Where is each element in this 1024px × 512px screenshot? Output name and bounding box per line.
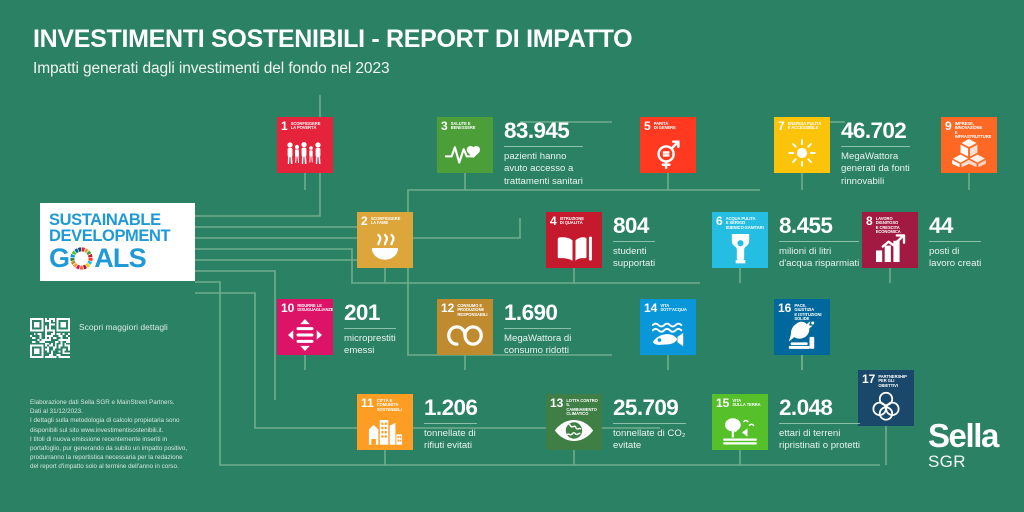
goal-tile-header: 7ENERGIA PULITA E ACCESSIBILE bbox=[778, 121, 826, 137]
goal-number: 3 bbox=[441, 121, 448, 132]
goal-item-13[interactable]: 13LOTTA CONTRO IL CAMBIAMENTO CLIMATICO2… bbox=[546, 394, 686, 453]
goal-label: ACQUA PULITA E SERVIZI IGIENICO-SANITARI bbox=[726, 216, 764, 230]
goal-number: 8 bbox=[866, 216, 873, 227]
goal-stat-description: pazienti hanno avuto accesso a trattamen… bbox=[504, 151, 583, 188]
goal-number: 11 bbox=[361, 398, 374, 409]
goal-stat-value: 25.709 bbox=[613, 395, 686, 420]
goal-tile-header: 6ACQUA PULITA E SERVIZI IGIENICO-SANITAR… bbox=[716, 216, 764, 232]
goal-stat-value: 201 bbox=[344, 300, 396, 325]
goal-number: 4 bbox=[550, 216, 557, 227]
goal-stat-value: 44 bbox=[929, 213, 981, 238]
goal-label: PARTNERSHIP PER GLI OBIETTIVI bbox=[878, 374, 910, 388]
open-book-icon bbox=[546, 232, 602, 264]
goal-label: PARITÀ DI GENERE bbox=[654, 121, 676, 131]
heartbeat-icon bbox=[437, 137, 493, 169]
goal-label: VITA SOTT'ACQUA bbox=[660, 303, 686, 313]
goal-tile-11[interactable]: 11CITTÀ E COMUNITÀ SOSTENIBILI bbox=[357, 394, 413, 450]
goal-number: 16 bbox=[778, 303, 791, 314]
goal-item-17[interactable]: 17PARTNERSHIP PER GLI OBIETTIVI bbox=[858, 370, 914, 426]
goal-item-15[interactable]: 15VITA SULLA TERRA2.048ettari di terreni… bbox=[712, 394, 860, 453]
footnote-line: disponibili sul sito www.investimentisos… bbox=[30, 426, 210, 435]
footnote-line: I dettagli sulla metodologia di calcolo … bbox=[30, 416, 210, 425]
goal-stat-value: 1.206 bbox=[424, 395, 477, 420]
tree-birds-icon bbox=[712, 414, 768, 446]
brand-logo: Sella SGR bbox=[928, 420, 998, 471]
footnote: Elaborazione dati Sella SGR e MainStreet… bbox=[30, 398, 210, 472]
goal-tile-header: 11CITTÀ E COMUNITÀ SOSTENIBILI bbox=[361, 398, 409, 414]
goal-item-14[interactable]: 14VITA SOTT'ACQUA bbox=[640, 299, 696, 355]
goal-tile-2[interactable]: 2SCONFIGGERE LA FAME bbox=[357, 212, 413, 268]
goal-number: 1 bbox=[281, 121, 288, 132]
goal-tile-10[interactable]: 10RIDURRE LE DISUGUAGLIANZE bbox=[277, 299, 333, 355]
goal-number: 13 bbox=[550, 398, 563, 409]
goal-number: 2 bbox=[361, 216, 368, 227]
footnote-line: Elaborazione dati Sella SGR e MainStreet… bbox=[30, 398, 210, 407]
goal-item-7[interactable]: 7ENERGIA PULITA E ACCESSIBILE46.702MegaW… bbox=[774, 117, 910, 188]
goal-label: VITA SULLA TERRA bbox=[732, 398, 760, 408]
goal-stat-value: 1.690 bbox=[504, 300, 571, 325]
goal-tile-16[interactable]: 16PACE, GIUSTIZIA E ISTITUZIONI SOLIDE bbox=[774, 299, 830, 355]
goal-stat-description: microprestiti emessi bbox=[344, 333, 396, 358]
goal-stat-rule bbox=[929, 241, 981, 242]
infinity-loop-icon bbox=[437, 319, 493, 351]
family-people-icon bbox=[277, 137, 333, 169]
goal-item-8[interactable]: 8LAVORO DIGNITOSO E CRESCITA ECONOMICA44… bbox=[862, 212, 981, 271]
page-subtitle: Impatti generati dagli investimenti del … bbox=[33, 60, 632, 78]
goal-stat-value: 46.702 bbox=[841, 118, 910, 143]
goal-tile-7[interactable]: 7ENERGIA PULITA E ACCESSIBILE bbox=[774, 117, 830, 173]
footnote-line: del report d'impatto solo al termine del… bbox=[30, 462, 210, 471]
goal-tile-header: 13LOTTA CONTRO IL CAMBIAMENTO CLIMATICO bbox=[550, 398, 598, 414]
goal-item-3[interactable]: 3SALUTE E BENESSERE83.945pazienti hanno … bbox=[437, 117, 583, 188]
goal-tile-header: 15VITA SULLA TERRA bbox=[716, 398, 764, 414]
brand-unit: SGR bbox=[928, 453, 998, 471]
goal-tile-5[interactable]: 5PARITÀ DI GENERE bbox=[640, 117, 696, 173]
goal-tile-3[interactable]: 3SALUTE E BENESSERE bbox=[437, 117, 493, 173]
goal-number: 6 bbox=[716, 216, 723, 227]
goal-label: CITTÀ E COMUNITÀ SOSTENIBILI bbox=[377, 398, 409, 412]
goal-item-1[interactable]: 1SCONFIGGERE LA POVERTÀ bbox=[277, 117, 333, 173]
growth-chart-icon bbox=[862, 232, 918, 264]
dove-gavel-icon bbox=[774, 319, 830, 351]
footnote-line: Dati al 31/12/2023. bbox=[30, 407, 210, 416]
goal-stat: 804studenti supportati bbox=[613, 212, 655, 271]
sdg-logo-g: G bbox=[49, 245, 69, 272]
goal-stat: 46.702MegaWattora generati da fonti rinn… bbox=[841, 117, 910, 188]
goal-number: 7 bbox=[778, 121, 785, 132]
goal-item-5[interactable]: 5PARITÀ DI GENERE bbox=[640, 117, 696, 173]
goal-tile-header: 3SALUTE E BENESSERE bbox=[441, 121, 489, 137]
goal-stat: 201microprestiti emessi bbox=[344, 299, 396, 358]
sdg-logo-line1: SUSTAINABLE bbox=[49, 212, 195, 228]
goal-tile-header: 1SCONFIGGERE LA POVERTÀ bbox=[281, 121, 329, 137]
goal-item-10[interactable]: 10RIDURRE LE DISUGUAGLIANZE201microprest… bbox=[277, 299, 396, 358]
goal-stat-rule bbox=[613, 423, 686, 424]
brand-name: Sella bbox=[928, 420, 998, 452]
goal-stat-description: ettari di terreni ripristinati o protett… bbox=[779, 428, 860, 453]
goal-tile-6[interactable]: 6ACQUA PULITA E SERVIZI IGIENICO-SANITAR… bbox=[712, 212, 768, 268]
goal-label: ISTRUZIONE DI QUALITÀ bbox=[560, 216, 584, 226]
goal-item-16[interactable]: 16PACE, GIUSTIZIA E ISTITUZIONI SOLIDE bbox=[774, 299, 830, 355]
page-title: INVESTIMENTI SOSTENIBILI - REPORT DI IMP… bbox=[33, 26, 632, 54]
goal-tile-header: 14VITA SOTT'ACQUA bbox=[644, 303, 692, 319]
qr-code-icon[interactable] bbox=[30, 318, 70, 358]
goal-label: SALUTE E BENESSERE bbox=[451, 121, 476, 131]
equal-arrows-icon bbox=[277, 319, 333, 351]
sdg-logo-line3: G ALS bbox=[49, 245, 195, 272]
goal-stat-value: 2.048 bbox=[779, 395, 860, 420]
goal-stat: 25.709tonnellate di CO₂ evitate bbox=[613, 394, 686, 453]
goal-number: 9 bbox=[945, 121, 952, 132]
goal-item-6[interactable]: 6ACQUA PULITA E SERVIZI IGIENICO-SANITAR… bbox=[712, 212, 859, 271]
goal-item-11[interactable]: 11CITTÀ E COMUNITÀ SOSTENIBILI1.206tonne… bbox=[357, 394, 477, 453]
goal-stat-description: MegaWattora generati da fonti rinnovabil… bbox=[841, 151, 910, 188]
fish-waves-icon bbox=[640, 319, 696, 351]
goal-number: 5 bbox=[644, 121, 651, 132]
goal-stat: 44posti di lavoro creati bbox=[929, 212, 981, 271]
goal-item-2[interactable]: 2SCONFIGGERE LA FAME bbox=[357, 212, 413, 268]
goal-number: 15 bbox=[716, 398, 729, 409]
goal-tile-14[interactable]: 14VITA SOTT'ACQUA bbox=[640, 299, 696, 355]
goal-stat-description: studenti supportati bbox=[613, 246, 655, 271]
goal-tile-13[interactable]: 13LOTTA CONTRO IL CAMBIAMENTO CLIMATICO bbox=[546, 394, 602, 450]
goal-tile-8[interactable]: 8LAVORO DIGNITOSO E CRESCITA ECONOMICA bbox=[862, 212, 918, 268]
goal-tile-header: 16PACE, GIUSTIZIA E ISTITUZIONI SOLIDE bbox=[778, 303, 826, 319]
goal-tile-header: 8LAVORO DIGNITOSO E CRESCITA ECONOMICA bbox=[866, 216, 914, 232]
goal-tile-header: 5PARITÀ DI GENERE bbox=[644, 121, 692, 137]
goal-tile-17[interactable]: 17PARTNERSHIP PER GLI OBIETTIVI bbox=[858, 370, 914, 426]
goal-stat-description: tonnellate di CO₂ evitate bbox=[613, 428, 686, 453]
qr-block[interactable]: Scopri maggiori dettagli bbox=[30, 318, 168, 358]
qr-caption: Scopri maggiori dettagli bbox=[79, 318, 168, 333]
goal-stat: 1.690MegaWattora di consumo ridotti bbox=[504, 299, 571, 358]
goal-stat-rule bbox=[779, 241, 859, 242]
goal-label: ENERGIA PULITA E ACCESSIBILE bbox=[788, 121, 821, 131]
goal-stat-value: 804 bbox=[613, 213, 655, 238]
goal-item-4[interactable]: 4ISTRUZIONE DI QUALITÀ804studenti suppor… bbox=[546, 212, 655, 271]
goal-tile-header: 9IMPRESE, INNOVAZIONE E INFRASTRUTTURE bbox=[945, 121, 993, 137]
infographic-canvas: INVESTIMENTI SOSTENIBILI - REPORT DI IMP… bbox=[0, 0, 1024, 512]
goal-stat-rule bbox=[504, 146, 583, 147]
goal-stat: 8.455milioni di litri d'acqua risparmiat… bbox=[779, 212, 859, 271]
goal-stat: 83.945pazienti hanno avuto accesso a tra… bbox=[504, 117, 583, 188]
goal-number: 10 bbox=[281, 303, 294, 314]
footnote-line: produrranno la reportistica necessaria p… bbox=[30, 453, 210, 462]
water-drop-icon bbox=[712, 232, 768, 264]
goal-number: 12 bbox=[441, 303, 454, 314]
footnote-line: I titoli di nuova emissione recentemente… bbox=[30, 435, 210, 444]
goal-tile-header: 2SCONFIGGERE LA FAME bbox=[361, 216, 409, 232]
goal-tile-header: 10RIDURRE LE DISUGUAGLIANZE bbox=[281, 303, 329, 319]
climate-eye-icon bbox=[546, 414, 602, 446]
goal-tile-4[interactable]: 4ISTRUZIONE DI QUALITÀ bbox=[546, 212, 602, 268]
goal-tile-header: 12CONSUMO E PRODUZIONE RESPONSABILI bbox=[441, 303, 489, 319]
goal-tile-header: 17PARTNERSHIP PER GLI OBIETTIVI bbox=[862, 374, 910, 390]
footnote-line: portafoglio, pur generando da subito un … bbox=[30, 444, 210, 453]
gender-equality-icon bbox=[640, 137, 696, 169]
page-header: INVESTIMENTI SOSTENIBILI - REPORT DI IMP… bbox=[33, 26, 632, 78]
goal-item-12[interactable]: 12CONSUMO E PRODUZIONE RESPONSABILI1.690… bbox=[437, 299, 571, 358]
goal-stat-rule bbox=[779, 423, 860, 424]
goal-stat-value: 8.455 bbox=[779, 213, 859, 238]
industry-cubes-icon bbox=[941, 137, 997, 169]
goal-item-9[interactable]: 9IMPRESE, INNOVAZIONE E INFRASTRUTTURE bbox=[941, 117, 997, 173]
goal-stat-rule bbox=[504, 328, 571, 329]
goal-stat-description: posti di lavoro creati bbox=[929, 246, 981, 271]
goal-stat-rule bbox=[841, 146, 910, 147]
goal-stat-description: milioni di litri d'acqua risparmiati bbox=[779, 246, 859, 271]
sun-energy-icon bbox=[774, 137, 830, 169]
goal-label: SCONFIGGERE LA POVERTÀ bbox=[291, 121, 321, 131]
cityscape-icon bbox=[357, 414, 413, 446]
goal-label: CONSUMO E PRODUZIONE RESPONSABILI bbox=[457, 303, 487, 317]
goal-tile-15[interactable]: 15VITA SULLA TERRA bbox=[712, 394, 768, 450]
goal-tile-9[interactable]: 9IMPRESE, INNOVAZIONE E INFRASTRUTTURE bbox=[941, 117, 997, 173]
interlocked-circles-icon bbox=[858, 390, 914, 422]
goal-stat: 2.048ettari di terreni ripristinati o pr… bbox=[779, 394, 860, 453]
goal-stat-rule bbox=[344, 328, 396, 329]
goal-stat-rule bbox=[613, 241, 655, 242]
goal-stat-description: MegaWattora di consumo ridotti bbox=[504, 333, 571, 358]
goal-label: SCONFIGGERE LA FAME bbox=[371, 216, 401, 226]
goal-tile-1[interactable]: 1SCONFIGGERE LA POVERTÀ bbox=[277, 117, 333, 173]
goal-tile-header: 4ISTRUZIONE DI QUALITÀ bbox=[550, 216, 598, 232]
sdg-color-wheel-icon bbox=[70, 247, 93, 270]
goal-label: RIDURRE LE DISUGUAGLIANZE bbox=[297, 303, 333, 313]
goal-stat-rule bbox=[424, 423, 477, 424]
sdg-logo-line2: DEVELOPMENT bbox=[49, 228, 195, 244]
goal-stat: 1.206tonnellate di rifiuti evitati bbox=[424, 394, 477, 453]
sdg-logo-box: SUSTAINABLE DEVELOPMENT G ALS bbox=[40, 203, 195, 281]
goal-stat-value: 83.945 bbox=[504, 118, 583, 143]
goal-number: 17 bbox=[862, 374, 875, 385]
sdg-logo-als: ALS bbox=[94, 245, 146, 272]
goal-stat-description: tonnellate di rifiuti evitati bbox=[424, 428, 477, 453]
steaming-bowl-icon bbox=[357, 232, 413, 264]
goal-number: 14 bbox=[644, 303, 657, 314]
goal-tile-12[interactable]: 12CONSUMO E PRODUZIONE RESPONSABILI bbox=[437, 299, 493, 355]
